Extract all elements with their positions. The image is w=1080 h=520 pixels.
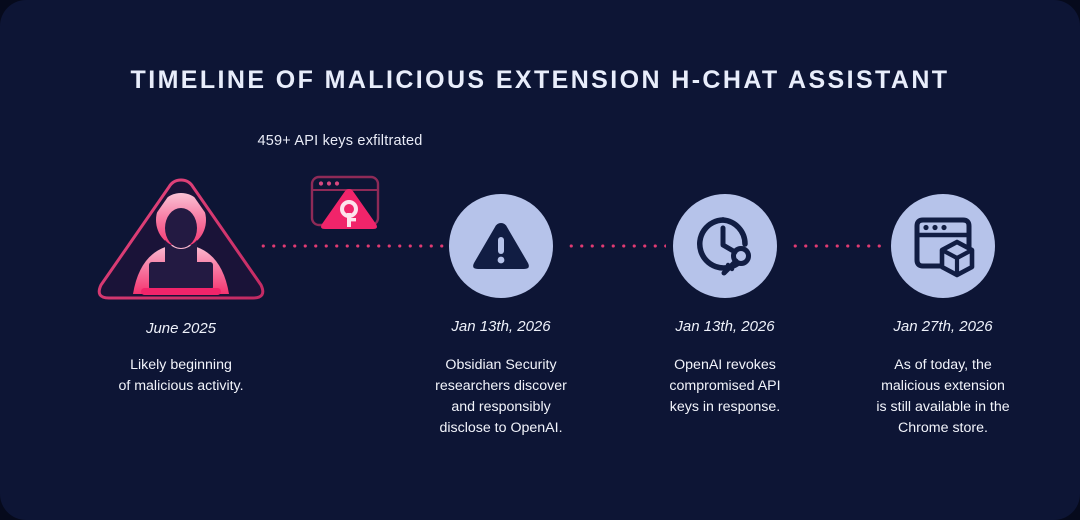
event-1-icon-area: [68, 190, 294, 308]
event-4-date: Jan 27th, 2026: [830, 318, 1056, 335]
event-1-description: Likely beginningof malicious activity.: [71, 355, 291, 397]
browser-key-warning-icon: [304, 172, 394, 234]
infographic-canvas: TIMELINE OF MALICIOUS EXTENSION H-CHAT A…: [0, 0, 1080, 520]
event-3-date: Jan 13th, 2026: [612, 318, 838, 335]
warning-triangle-icon: [470, 215, 532, 277]
event-3-icon-circle: [673, 194, 777, 298]
event-3-icon-area: [612, 190, 838, 308]
event-3-description: OpenAI revokescompromised APIkeys in res…: [615, 355, 835, 418]
event-1-date: June 2025: [68, 320, 294, 337]
event-4-icon-circle: [891, 194, 995, 298]
exfiltration-callout-label: 459+ API keys exfiltrated: [184, 133, 496, 149]
browser-extension-cube-icon: [911, 214, 975, 278]
event-2-icon-circle: [449, 194, 553, 298]
event-2-date: Jan 13th, 2026: [388, 318, 614, 335]
page-title: TIMELINE OF MALICIOUS EXTENSION H-CHAT A…: [0, 66, 1080, 95]
event-2-description: Obsidian Securityresearchers discoverand…: [391, 355, 611, 439]
clock-key-icon: [693, 214, 757, 278]
event-2-icon-area: [388, 190, 614, 308]
event-4-icon-area: [830, 190, 1056, 308]
hacker-warning-triangle-icon: [93, 166, 269, 306]
event-4-description: As of today, themalicious extensionis st…: [833, 355, 1053, 439]
